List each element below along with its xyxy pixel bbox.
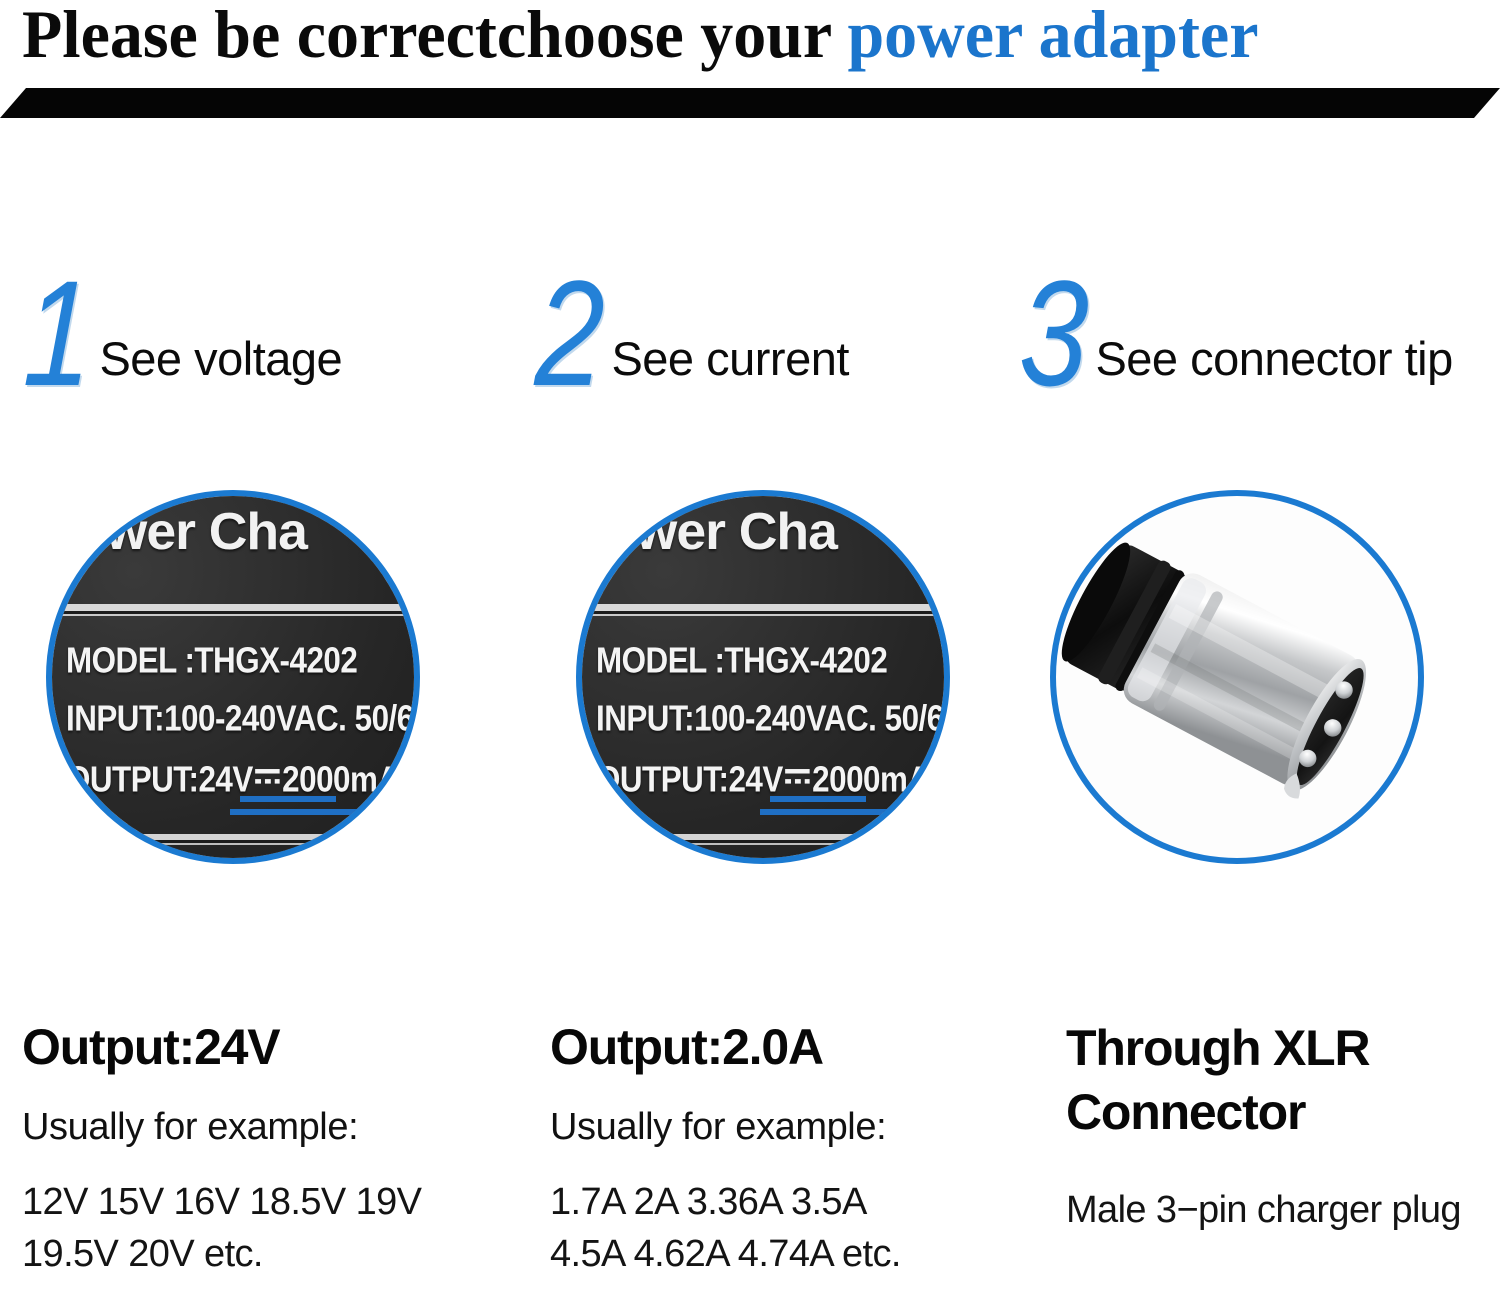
example-line: 12V 15V 16V 18.5V 19V	[22, 1176, 522, 1228]
dc-current-icon	[783, 756, 812, 792]
adapter-label-plate: ower Cha MODEL :THGX-4202 INPUT:100-240V…	[576, 496, 950, 864]
column-examples-connector: Male 3−pin charger plug	[1066, 1184, 1486, 1236]
adapter-hazard-text: HAZARD	[246, 852, 370, 864]
adapter-output-current: 2000mA	[812, 759, 929, 799]
example-line: 4.5A 4.62A 4.74A etc.	[550, 1228, 1040, 1280]
page-title-blue-segment: power adapter	[847, 0, 1258, 72]
example-line: 19.5V 20V etc.	[22, 1228, 522, 1280]
adapter-hazard-text: HAZARD	[776, 852, 900, 864]
header-divider-bar	[0, 88, 1500, 118]
step-label-1: See voltage	[99, 334, 342, 392]
label-divider-top	[46, 604, 420, 611]
adapter-output-voltage: OUTPUT:24V	[596, 759, 783, 799]
column-subtitle-voltage: Usually for example:	[22, 1104, 522, 1150]
adapter-caution-text: TION!	[606, 852, 685, 864]
adapter-label-closeup-current: ower Cha MODEL :THGX-4202 INPUT:100-240V…	[576, 490, 950, 864]
summary-column-connector: Through XLR Connector Male 3−pin charger…	[1066, 1016, 1486, 1236]
adapter-label-closeup-voltage: ower Cha MODEL :THGX-4202 INPUT:100-240V…	[46, 490, 420, 864]
adapter-label-plate: ower Cha MODEL :THGX-4202 INPUT:100-240V…	[46, 496, 420, 864]
step-number-1: 1	[22, 274, 92, 392]
column-title-connector-line-1: Through XLR	[1066, 1016, 1486, 1080]
summary-column-voltage: Output:24V Usually for example: 12V 15V …	[22, 1016, 522, 1280]
column-examples-voltage: 12V 15V 16V 18.5V 19V 19.5V 20V etc.	[22, 1176, 522, 1280]
adapter-brand-text: ower Cha	[74, 502, 307, 562]
label-divider-bottom	[46, 834, 420, 840]
adapter-input-text: INPUT:100-240VAC. 50/60Hz	[66, 698, 420, 739]
adapter-output-voltage: OUTPUT:24V	[66, 759, 253, 799]
adapter-model-text: MODEL :THGX-4202	[66, 640, 357, 681]
step-heading-2: 2 See current	[534, 262, 849, 392]
dc-current-icon	[253, 756, 282, 792]
xlr-connector-icon	[1056, 496, 1418, 858]
adapter-input-text: INPUT:100-240VAC. 50/60Hz	[596, 698, 950, 739]
adapter-caution-text: TION!	[76, 852, 155, 864]
adapter-output-text: OUTPUT:24V2000mA	[596, 756, 930, 801]
example-line: Male 3−pin charger plug	[1066, 1184, 1466, 1236]
summary-column-current: Output:2.0A Usually for example: 1.7A 2A…	[550, 1016, 1040, 1280]
step-number-3: 3	[1018, 274, 1088, 392]
column-examples-current: 1.7A 2A 3.36A 3.5A 4.5A 4.62A 4.74A etc.	[550, 1176, 1040, 1280]
xlr-connector-closeup	[1050, 490, 1424, 864]
highlight-underline-long	[760, 809, 950, 815]
column-title-voltage: Output:24V	[22, 1016, 522, 1078]
page-title: Please be correctchoose your power adapt…	[22, 0, 1448, 72]
highlight-underline-short	[240, 796, 336, 802]
step-number-2: 2	[534, 274, 604, 392]
step-label-3: See connector tip	[1095, 334, 1452, 392]
page-title-dark-segment: Please be correctchoose your	[22, 0, 847, 72]
example-line: 1.7A 2A 3.36A 3.5A	[550, 1176, 1040, 1228]
adapter-output-current: 2000mA	[282, 759, 399, 799]
step-label-2: See current	[611, 334, 848, 392]
label-divider-bottom	[576, 834, 950, 840]
column-title-current: Output:2.0A	[550, 1016, 1040, 1078]
step-heading-3: 3 See connector tip	[1018, 262, 1453, 392]
adapter-brand-text: ower Cha	[604, 502, 837, 562]
step-heading-1: 1 See voltage	[22, 262, 342, 392]
label-divider-top	[576, 604, 950, 611]
adapter-output-text: OUTPUT:24V2000mA	[66, 756, 400, 801]
adapter-model-text: MODEL :THGX-4202	[596, 640, 887, 681]
column-subtitle-current: Usually for example:	[550, 1104, 1040, 1150]
highlight-underline-short	[770, 796, 866, 802]
highlight-underline-long	[230, 809, 420, 815]
column-title-connector-line-2: Connector	[1066, 1080, 1486, 1144]
